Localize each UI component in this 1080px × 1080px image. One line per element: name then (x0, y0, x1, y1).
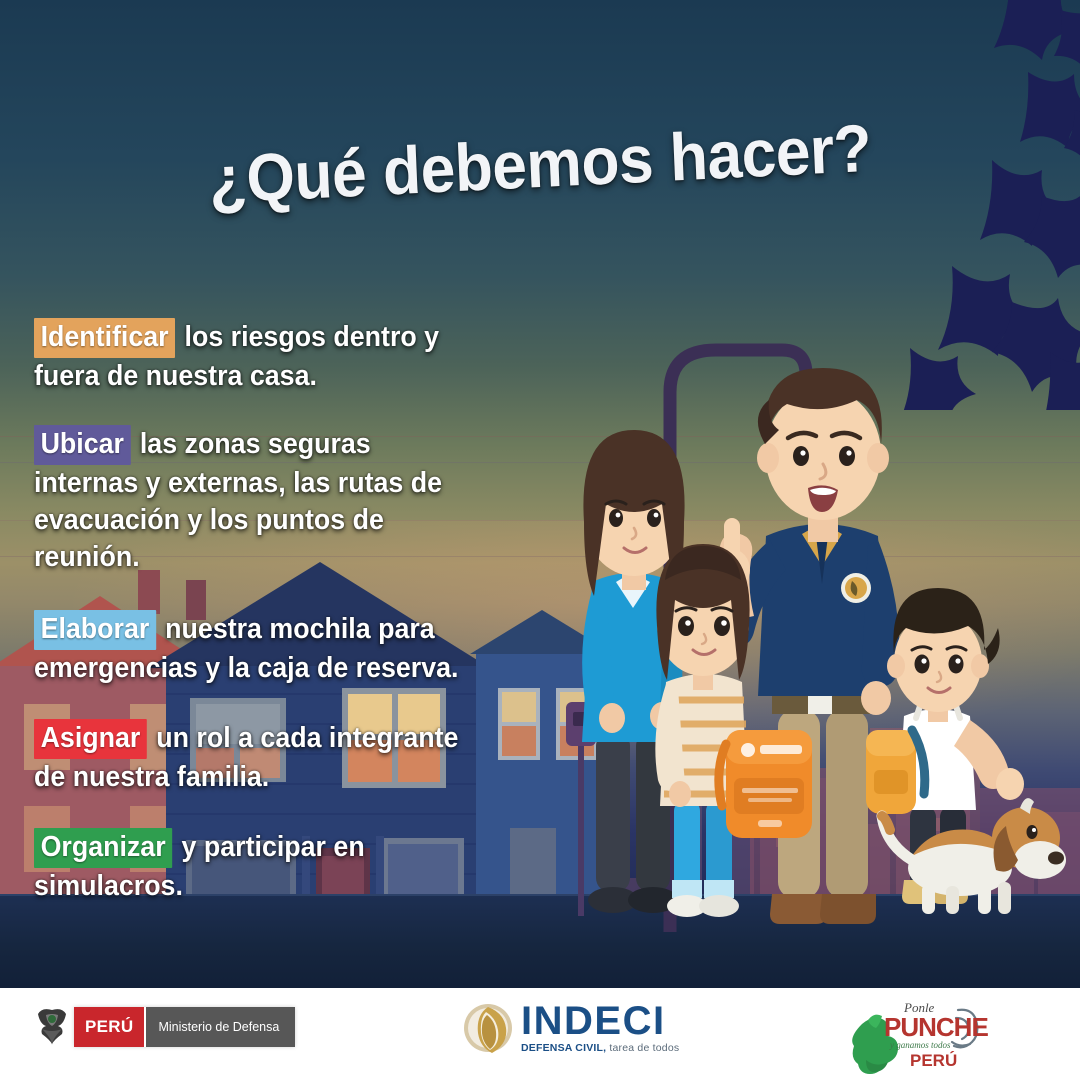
peru-coat-of-arms-icon (34, 1007, 70, 1047)
indeci-emblem-icon (462, 1002, 514, 1054)
peru-label: PERÚ (74, 1007, 144, 1047)
figure-mother (582, 430, 685, 913)
list-item: Organizar y participar en simulacros. (34, 828, 504, 905)
keyword-highlight-asignar: Asignar (34, 719, 147, 759)
emergency-backpack-icon (719, 730, 812, 838)
logo-indeci: INDECI DEFENSA CIVIL, tarea de todos (462, 1002, 679, 1054)
keyword-highlight-identificar: Identificar (34, 318, 175, 358)
logo-ponle-punche-peru: Ponle PUNCHE y ganamos todos PERÚ (848, 996, 998, 1074)
list-item: Asignar un rol a cada integrante de nues… (34, 719, 504, 796)
list-item: Elaborar nuestra mochila para emergencia… (34, 610, 504, 687)
keyword-highlight-elaborar: Elaborar (34, 610, 156, 650)
punche-line4: PERÚ (910, 1051, 957, 1070)
ministry-label: Ministerio de Defensa (144, 1007, 295, 1047)
footer-logo-bar: PERÚ Ministerio de Defensa INDECI DEFENS… (0, 988, 1080, 1080)
indeci-tagline: DEFENSA CIVIL, tarea de todos (521, 1042, 679, 1054)
logo-peru-ministerio-defensa: PERÚ Ministerio de Defensa (34, 1005, 295, 1049)
list-item: Identificar los riesgos dentro y fuera d… (34, 318, 504, 395)
indeci-tagline-bold: DEFENSA CIVIL, (521, 1042, 606, 1054)
keyword-highlight-organizar: Organizar (34, 828, 172, 868)
recommendations-list: Identificar los riesgos dentro y fuera d… (34, 318, 504, 925)
poster-root: ¿Qué debemos hacer? Identificar los ries… (0, 0, 1080, 1080)
family-illustration (520, 332, 1080, 932)
punche-line2: PUNCHE (884, 1012, 988, 1042)
indeci-wordmark: INDECI (521, 1002, 679, 1040)
keyword-highlight-ubicar: Ubicar (34, 425, 131, 465)
indeci-tagline-rest: tarea de todos (606, 1042, 679, 1054)
list-item: Ubicar las zonas seguras internas y exte… (34, 425, 504, 576)
punche-line3: y ganamos todos (889, 1040, 951, 1050)
